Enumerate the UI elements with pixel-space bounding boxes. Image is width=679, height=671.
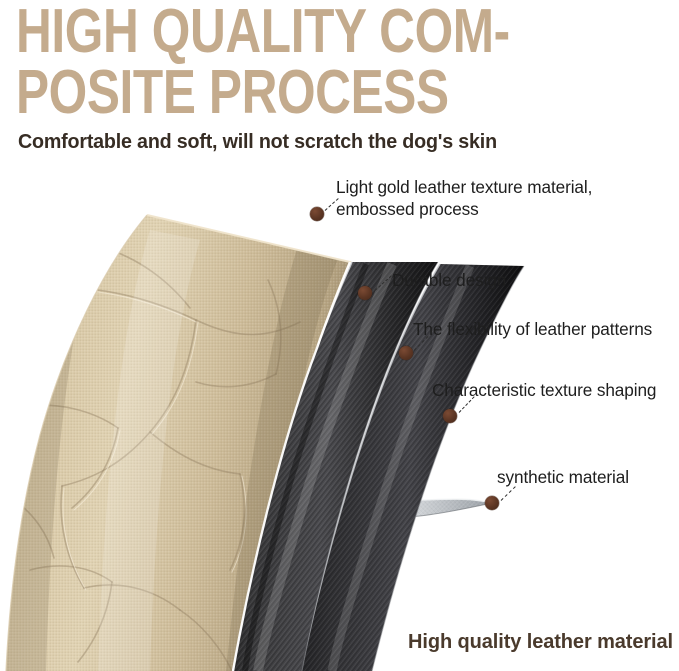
callout-label-leather-flexibility: The flexibility of leather patterns: [413, 318, 652, 340]
callout-dot-synthetic-material[interactable]: [485, 496, 499, 510]
callout-dot-durable-design[interactable]: [358, 286, 372, 300]
callout-label-synthetic-material: synthetic material: [497, 466, 629, 488]
footer-note: High quality leather material: [408, 631, 673, 654]
callout-label-texture-shaping: Characteristic texture shaping: [432, 379, 656, 401]
callout-dot-light-gold-leather[interactable]: [310, 207, 324, 221]
callout-dot-texture-shaping[interactable]: [443, 409, 457, 423]
callout-label-durable-design: Durable design: [392, 269, 506, 291]
product-infographic: HIGH QUALITY COM- POSITE PROCESS Comfort…: [0, 0, 679, 671]
material-layers-illustration: [0, 170, 560, 671]
page-title: HIGH QUALITY COM- POSITE PROCESS: [16, 2, 536, 124]
callout-label-light-gold-leather: Light gold leather texture material, emb…: [336, 176, 592, 220]
page-subtitle: Comfortable and soft, will not scratch t…: [18, 130, 497, 154]
callout-dot-leather-flexibility[interactable]: [399, 346, 413, 360]
